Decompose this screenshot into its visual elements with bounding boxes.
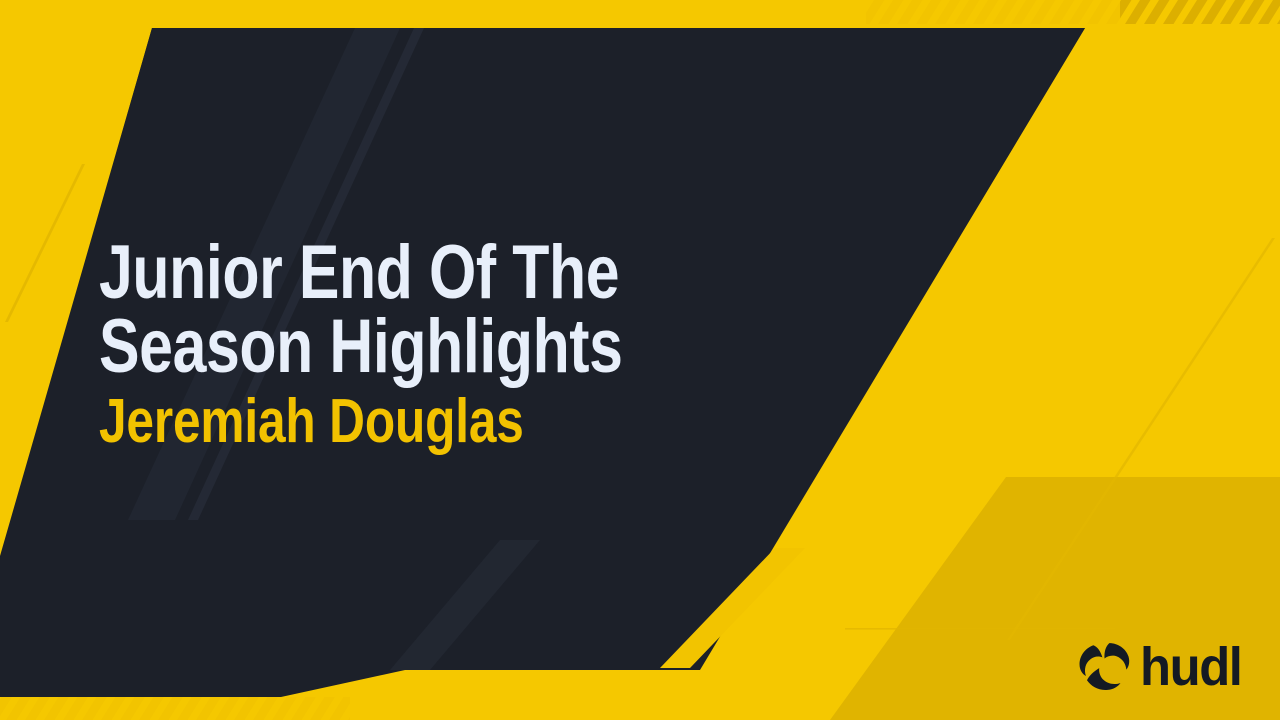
hatch-band-top-right — [866, 0, 1280, 28]
hairline-horizontal-right — [845, 628, 1115, 630]
headline-line-2: Season Highlights — [99, 310, 675, 384]
hudl-pinwheel-icon — [1077, 642, 1131, 692]
hudl-wordmark: hudl — [1140, 643, 1241, 691]
title-block: Junior End Of The Season Highlights Jere… — [99, 236, 819, 454]
subject-name: Jeremiah Douglas — [99, 384, 675, 454]
headline-line-1: Junior End Of The — [99, 236, 675, 310]
hudl-logo: hudl — [1077, 642, 1248, 692]
title-card-canvas: Junior End Of The Season Highlights Jere… — [0, 0, 1280, 720]
